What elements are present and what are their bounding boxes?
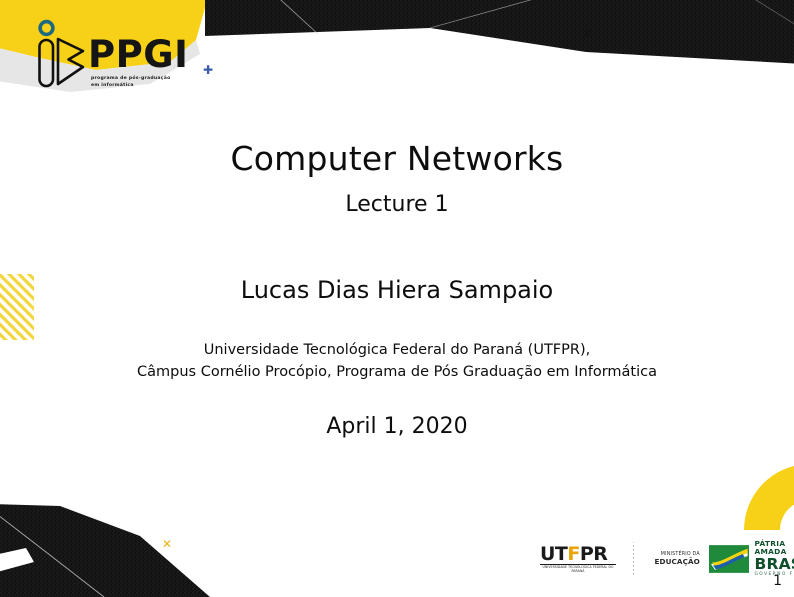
- brasil-line-2: BRASIL: [754, 556, 794, 572]
- ppgi-tagline: programa de pós-graduação em informática: [91, 76, 211, 89]
- utfpr-wordmark-part2: F: [567, 543, 579, 565]
- mec-line-2: EDUCAÇÃO: [648, 557, 700, 566]
- brasil-line-1: PÁTRIA AMADA: [754, 540, 794, 556]
- footer-dotted-divider: [633, 542, 634, 576]
- slide-canvas: ✕ ✚ ✕ PPGI programa de pós-graduação em …: [0, 0, 794, 597]
- ppgi-logo: PPGI programa de pós-graduação em inform…: [30, 18, 220, 98]
- ppgi-tagline-line2: em informática: [91, 83, 211, 90]
- mec-logo: MINISTÉRIO DA EDUCAÇÃO: [648, 552, 700, 567]
- utfpr-subtitle: UNIVERSIDADE TECNOLÓGICA FEDERAL DO PARA…: [540, 566, 616, 573]
- affiliation-line-2: Câmpus Cornélio Procópio, Programa de Pó…: [0, 361, 794, 383]
- ppgi-mark-icon: [30, 18, 92, 96]
- yellow-arc-bottom-right: [744, 464, 794, 530]
- ppgi-wordmark: PPGI: [88, 36, 188, 73]
- utfpr-wordmark-part3: PR: [580, 543, 608, 565]
- utfpr-logo: UTFPR UNIVERSIDADE TECNOLÓGICA FEDERAL D…: [540, 543, 615, 575]
- black-curve-bottom-left: [0, 504, 210, 597]
- affiliation: Universidade Tecnológica Federal do Para…: [0, 339, 794, 384]
- affiliation-line-1: Universidade Tecnológica Federal do Para…: [0, 339, 794, 361]
- ppgi-tagline-line1: programa de pós-graduação: [91, 76, 211, 83]
- brazil-flag-icon: [709, 545, 750, 573]
- author-name: Lucas Dias Hiera Sampaio: [0, 276, 794, 304]
- utfpr-wordmark: UTFPR: [540, 545, 607, 564]
- slide-subtitle: Lecture 1: [0, 192, 794, 217]
- page-number: 1: [773, 573, 782, 589]
- presentation-date: April 1, 2020: [0, 414, 794, 439]
- utfpr-wordmark-part1: UT: [540, 543, 567, 565]
- footer-logo-group: UTFPR UNIVERSIDADE TECNOLÓGICA FEDERAL D…: [540, 541, 794, 577]
- black-band-top: [205, 0, 794, 64]
- page-title: Computer Networks: [0, 139, 794, 178]
